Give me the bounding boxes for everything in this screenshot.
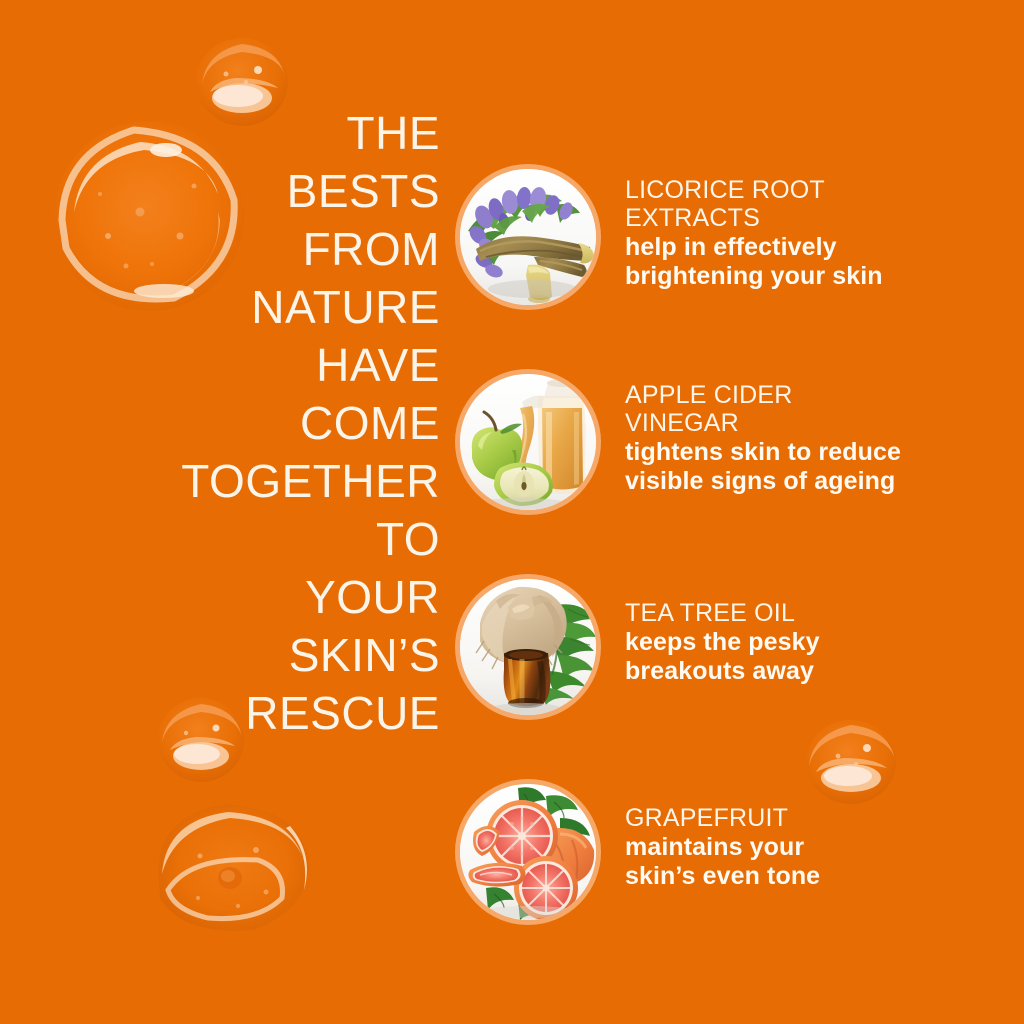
- headline: THE BESTS FROM NATURE HAVE COME TOGETHER…: [170, 104, 440, 742]
- ingredient-copy: LICORICE ROOT EXTRACTS help in effective…: [625, 164, 883, 291]
- ingredient-description: tightens skin to reduce visible signs of…: [625, 438, 901, 496]
- apple-cider-vinegar-illustration: [460, 374, 596, 510]
- grapefruit-photo: [460, 784, 596, 920]
- ingredient-description: keeps the pesky breakouts away: [625, 628, 820, 686]
- ingredient-row-grapefruit: GRAPEFRUIT maintains your skin’s even to…: [455, 779, 820, 925]
- ingredient-infographic-poster: THE BESTS FROM NATURE HAVE COME TOGETHER…: [0, 0, 1024, 1024]
- ingredient-description: maintains your skin’s even tone: [625, 833, 820, 891]
- tea-tree-oil-illustration: [460, 579, 596, 715]
- ingredient-copy: GRAPEFRUIT maintains your skin’s even to…: [625, 779, 820, 891]
- ingredient-copy: TEA TREE OIL keeps the pesky breakouts a…: [625, 574, 820, 686]
- ingredient-title: APPLE CIDER VINEGAR: [625, 381, 901, 437]
- tea-tree-oil-photo: [460, 579, 596, 715]
- thumb-ring-grapefruit: [455, 779, 601, 925]
- ingredient-row-licorice-root: LICORICE ROOT EXTRACTS help in effective…: [455, 164, 883, 310]
- thumb-ring-licorice-root: [455, 164, 601, 310]
- ingredient-copy: APPLE CIDER VINEGAR tightens skin to red…: [625, 369, 901, 496]
- apple-cider-vinegar-photo: [460, 374, 596, 510]
- ingredient-title: GRAPEFRUIT: [625, 804, 820, 832]
- licorice-root-photo: [460, 169, 596, 305]
- ingredient-title: LICORICE ROOT EXTRACTS: [625, 176, 883, 232]
- ingredient-row-tea-tree-oil: TEA TREE OIL keeps the pesky breakouts a…: [455, 574, 820, 720]
- gel-droplet-bottom-left-large: [138, 794, 324, 944]
- ingredient-title: TEA TREE OIL: [625, 599, 820, 627]
- grapefruit-illustration: [460, 784, 596, 920]
- thumb-ring-apple-cider-vinegar: [455, 369, 601, 515]
- ingredient-row-apple-cider-vinegar: APPLE CIDER VINEGAR tightens skin to red…: [455, 369, 901, 515]
- ingredient-description: help in effectively brightening your ski…: [625, 233, 883, 291]
- thumb-ring-tea-tree-oil: [455, 574, 601, 720]
- licorice-root-illustration: [460, 169, 596, 305]
